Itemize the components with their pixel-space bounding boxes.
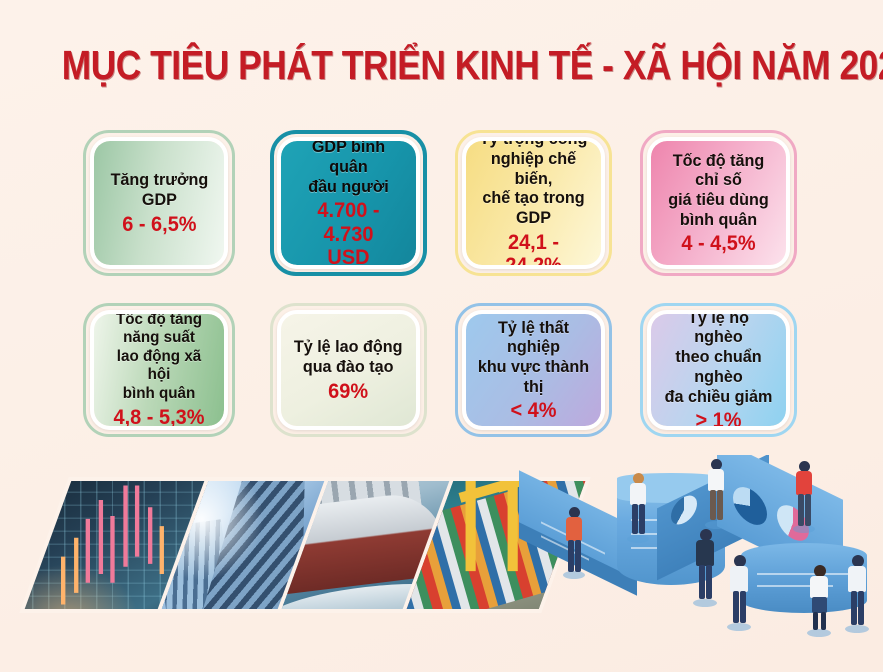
card-label: Tỷ lệ thất nghiệp khu vực thành thị	[477, 318, 590, 397]
metric-card-ho-ngheo[interactable]: Tỷ lệ hộ nghèo theo chuẩn nghèo đa chiều…	[640, 303, 797, 437]
card-value: 69%	[294, 380, 403, 403]
card-label: Tỷ lệ hộ nghèo theo chuẩn nghèo đa chiều…	[662, 310, 775, 406]
iso-cyl-right-line-1	[757, 573, 849, 575]
card-text: Tốc độ tăng năng suất lao động xã hội bì…	[94, 310, 224, 430]
metric-card-ty-trong-cong-nghiep[interactable]: Tỷ trọng công nghiệp chế biến, chế tạo t…	[455, 130, 612, 276]
metric-card-nang-suat-lao-dong[interactable]: Tốc độ tăng năng suất lao động xã hội bì…	[83, 303, 235, 437]
card-value: 4,8 - 5,3%	[105, 406, 213, 429]
card-inner: GDP bình quân đầu người 4.700 - 4.730 US…	[277, 137, 420, 269]
card-text: Tỷ lệ lao động qua đào tạo 69%	[283, 333, 413, 407]
card-value: 4 - 4,5%	[662, 232, 775, 255]
card-text: Tỷ lệ thất nghiệp khu vực thành thị < 4%	[466, 314, 601, 427]
card-label: Tăng trưởng GDP	[110, 170, 208, 209]
metric-card-cpi[interactable]: Tốc độ tăng chỉ số giá tiêu dùng bình qu…	[640, 130, 797, 276]
metric-card-that-nghiep[interactable]: Tỷ lệ thất nghiệp khu vực thành thị < 4%	[455, 303, 612, 437]
metric-card-gdp-binh-quan[interactable]: GDP bình quân đầu người 4.700 - 4.730 US…	[270, 130, 427, 276]
card-label: Tỷ lệ lao động qua đào tạo	[294, 337, 403, 376]
card-label: Tốc độ tăng năng suất lao động xã hội bì…	[105, 311, 213, 404]
card-label: Tốc độ tăng chỉ số giá tiêu dùng bình qu…	[662, 151, 775, 230]
person-4	[793, 461, 815, 533]
card-value: 4.700 - 4.730 USD	[292, 199, 405, 268]
card-value: < 4%	[477, 399, 590, 422]
infographic-canvas: MỤC TIÊU PHÁT TRIỂN KINH TẾ - XÃ HỘI NĂM…	[0, 0, 883, 672]
card-inner: Tỷ lệ thất nghiệp khu vực thành thị < 4%	[462, 310, 605, 430]
person-2	[627, 473, 649, 543]
card-inner: Tỷ lệ lao động qua đào tạo 69%	[277, 310, 420, 430]
card-inner: Tỷ lệ hộ nghèo theo chuẩn nghèo đa chiều…	[647, 310, 790, 430]
card-inner: Tốc độ tăng chỉ số giá tiêu dùng bình qu…	[647, 137, 790, 269]
person-3	[705, 459, 727, 529]
card-text: Tăng trưởng GDP 6 - 6,5%	[100, 166, 219, 240]
card-value: > 1%	[662, 409, 775, 430]
metric-card-tang-truong-gdp[interactable]: Tăng trưởng GDP 6 - 6,5%	[83, 130, 235, 276]
card-text: GDP bình quân đầu người 4.700 - 4.730 US…	[281, 137, 416, 269]
person-6	[727, 555, 751, 631]
card-label: GDP bình quân đầu người	[292, 137, 405, 196]
card-inner: Tỷ trọng công nghiệp chế biến, chế tạo t…	[462, 137, 605, 269]
card-label: Tỷ trọng công nghiệp chế biến, chế tạo t…	[477, 137, 590, 228]
card-inner: Tốc độ tăng năng suất lao động xã hội bì…	[90, 310, 228, 430]
person-8	[845, 555, 869, 633]
metric-card-lao-dong-qua-dao-tao[interactable]: Tỷ lệ lao động qua đào tạo 69%	[270, 303, 427, 437]
person-7	[807, 565, 831, 637]
person-5	[693, 529, 717, 607]
card-inner: Tăng trưởng GDP 6 - 6,5%	[90, 137, 228, 269]
card-value: 24,1 - 24,2%	[477, 231, 590, 269]
card-value: 6 - 6,5%	[110, 213, 208, 236]
card-text: Tốc độ tăng chỉ số giá tiêu dùng bình qu…	[651, 147, 786, 260]
card-text: Tỷ lệ hộ nghèo theo chuẩn nghèo đa chiều…	[651, 310, 786, 430]
page-title: MỤC TIÊU PHÁT TRIỂN KINH TẾ - XÃ HỘI NĂM…	[62, 42, 821, 89]
card-text: Tỷ trọng công nghiệp chế biến, chế tạo t…	[466, 137, 601, 269]
isometric-analytics-illustration	[505, 455, 883, 672]
artwork-strip	[0, 455, 883, 672]
person-1	[563, 507, 585, 579]
